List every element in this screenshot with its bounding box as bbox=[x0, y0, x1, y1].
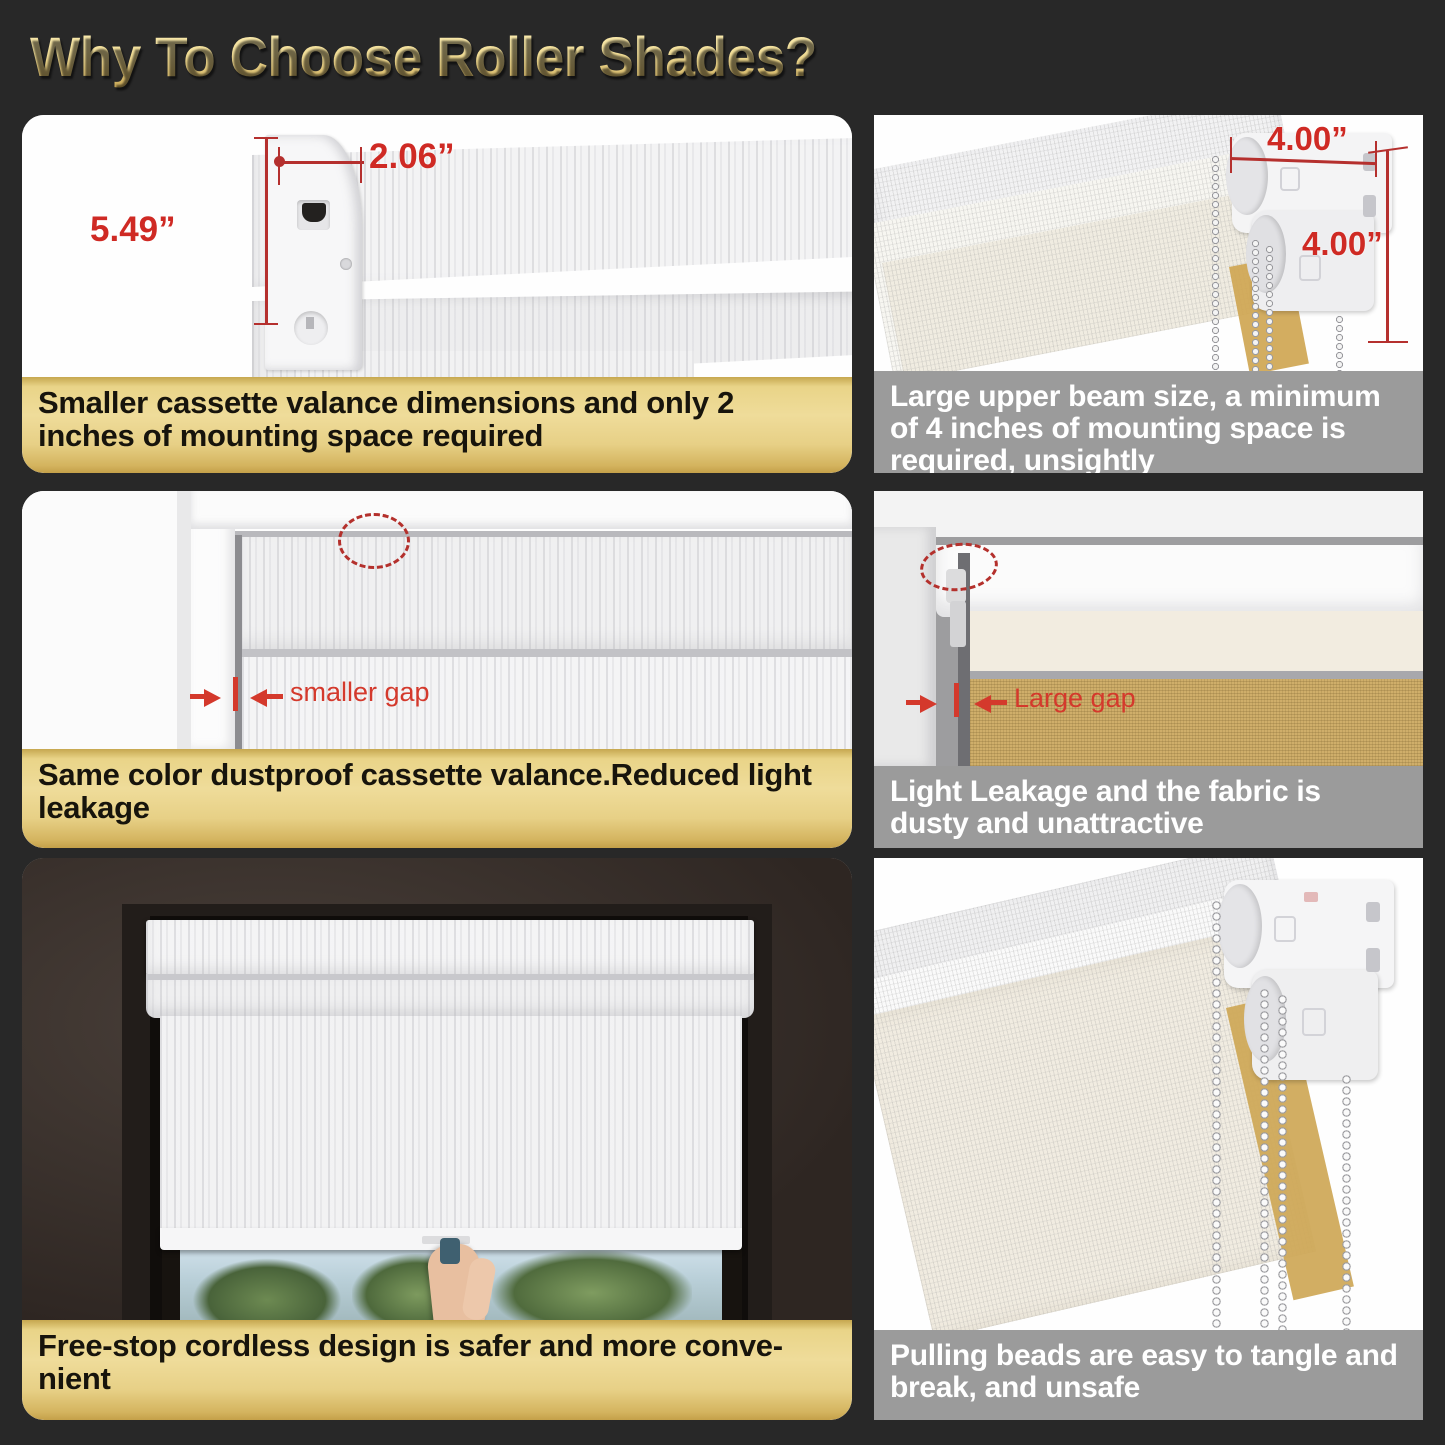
panel-cordless-design: Free-stop cordless design is safer and m… bbox=[22, 858, 852, 1420]
caption-text: Free-stop cordless design is safer and m… bbox=[38, 1330, 836, 1396]
dustproof-valance-photo: smaller gap bbox=[22, 491, 852, 749]
panel-dustproof-valance: smaller gap Same color dustproof cassett… bbox=[22, 491, 852, 848]
dim-span-height bbox=[265, 137, 268, 325]
gap-arrow-right bbox=[250, 689, 267, 707]
gap-arrow-left bbox=[920, 695, 937, 713]
dim-span-width bbox=[278, 161, 364, 164]
upper-beam-photo: 4.00” 4.00” bbox=[874, 115, 1423, 371]
bead-chain bbox=[1278, 994, 1287, 1330]
width-dimension-label: 4.00” bbox=[1267, 120, 1348, 158]
dim-tick-right bbox=[1375, 141, 1377, 177]
caption-text: Large upper beam size, a minimum of 4 in… bbox=[890, 381, 1407, 473]
dim-span-depth bbox=[1386, 151, 1389, 343]
depth-dimension-label: 4.00” bbox=[1302, 225, 1383, 263]
dim-cap-bottom bbox=[254, 323, 278, 325]
panel-caption: Same color dustproof cassette valance.Re… bbox=[22, 749, 852, 848]
panel-cassette-dimensions: 2.06” 5.49” Smaller cassette valance dim… bbox=[22, 115, 852, 473]
panel-pulling-beads: Pulling beads are easy to tangle and bre… bbox=[874, 858, 1423, 1420]
panel-large-upper-beam: 4.00” 4.00” Large upper beam size, a min… bbox=[874, 115, 1423, 473]
caption-text: Light Leakage and the fabric is dusty an… bbox=[890, 776, 1407, 840]
caption-text: Same color dustproof cassette valance.Re… bbox=[38, 759, 836, 825]
bead-chain bbox=[1260, 988, 1269, 1330]
pulling-beads-photo bbox=[874, 858, 1423, 1330]
panel-caption: Large upper beam size, a minimum of 4 in… bbox=[874, 371, 1423, 473]
gap-highlight-ellipse bbox=[338, 513, 410, 569]
panel-caption: Smaller cassette valance dimensions and … bbox=[22, 377, 852, 473]
gap-callout-label: Large gap bbox=[1014, 683, 1136, 714]
light-leakage-photo: Large gap bbox=[874, 491, 1423, 766]
width-dimension-label: 2.06” bbox=[369, 137, 455, 177]
panel-caption: Light Leakage and the fabric is dusty an… bbox=[874, 766, 1423, 848]
cordless-window-photo bbox=[22, 858, 852, 1328]
panel-caption: Free-stop cordless design is safer and m… bbox=[22, 1320, 852, 1420]
height-dimension-label: 5.49” bbox=[90, 210, 176, 250]
dim-tick-left bbox=[1230, 137, 1232, 173]
page-title: Why To Choose Roller Shades? bbox=[30, 24, 817, 89]
gap-arrow-right bbox=[974, 695, 991, 713]
gap-marker bbox=[233, 677, 238, 711]
gap-callout-label: smaller gap bbox=[290, 677, 430, 708]
dim-cap-bottom bbox=[1368, 341, 1408, 343]
gap-arrow-left bbox=[204, 689, 221, 707]
dim-tick-right bbox=[360, 147, 362, 183]
panel-caption: Pulling beads are easy to tangle and bre… bbox=[874, 1330, 1423, 1420]
caption-text: Pulling beads are easy to tangle and bre… bbox=[890, 1340, 1407, 1404]
gap-marker bbox=[954, 683, 959, 717]
caption-text: Smaller cassette valance dimensions and … bbox=[38, 387, 836, 453]
bead-chain bbox=[1212, 900, 1221, 1330]
bead-chain bbox=[1342, 1074, 1351, 1330]
dim-cap-top bbox=[254, 137, 278, 139]
cassette-valance-photo: 2.06” 5.49” bbox=[22, 115, 852, 377]
panel-light-leakage: Large gap Light Leakage and the fabric i… bbox=[874, 491, 1423, 848]
